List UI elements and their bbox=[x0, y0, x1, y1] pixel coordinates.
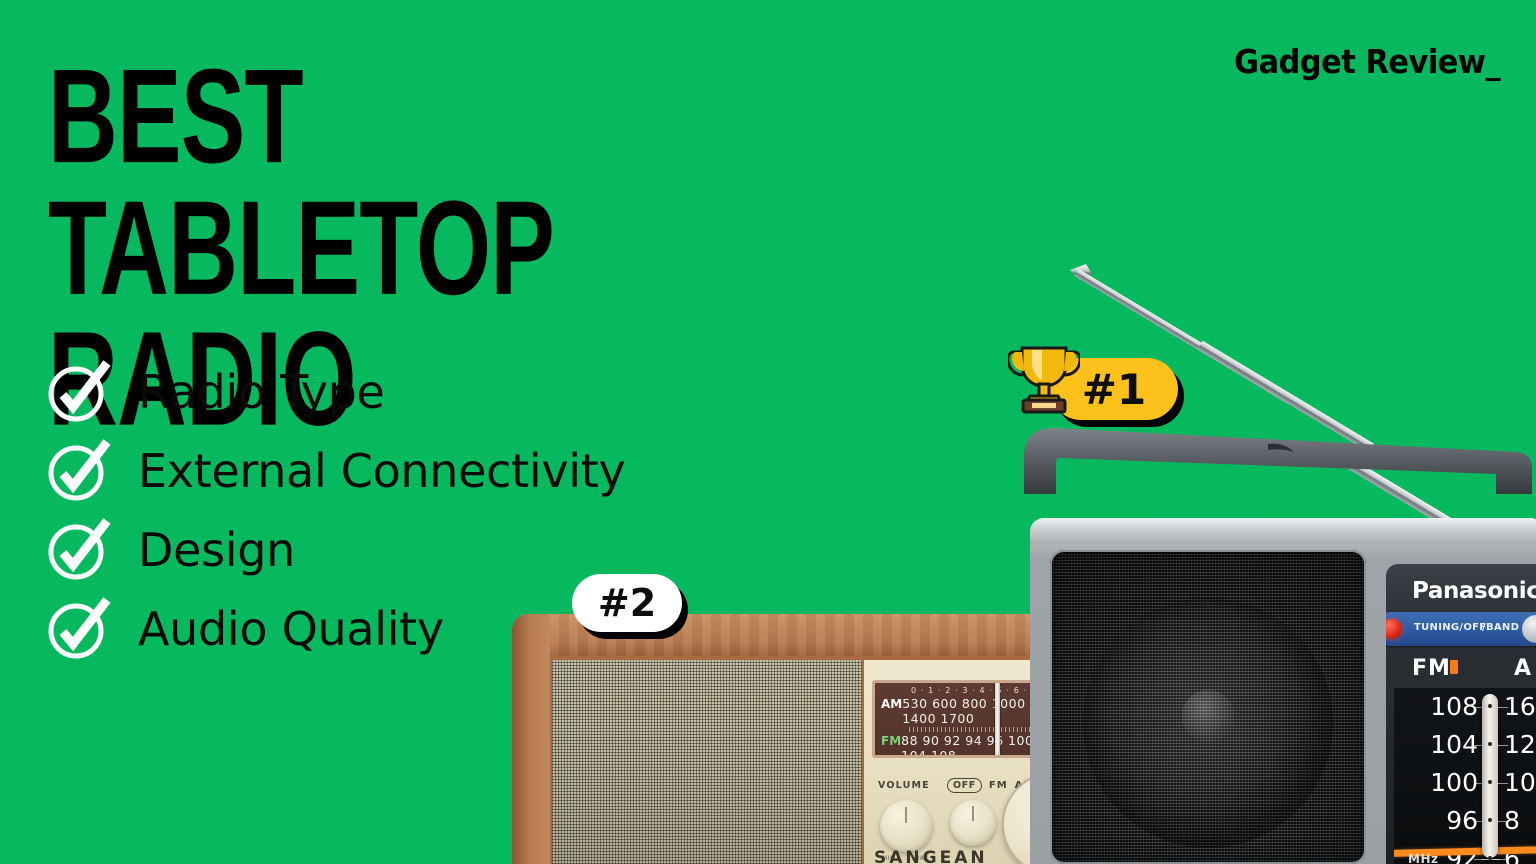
radio1-faceplate: Panasonic TUNING/OFF /BAND FM A 108 104 bbox=[1386, 564, 1536, 864]
checklist-item-label: Design bbox=[138, 523, 295, 577]
trophy-icon bbox=[1008, 336, 1080, 414]
radio1-control-strip: TUNING/OFF /BAND bbox=[1386, 612, 1536, 646]
checklist-item-radio-type: Radio Type bbox=[46, 352, 746, 431]
rank-badge-2-label: #2 bbox=[598, 581, 656, 625]
radio1-carry-handle bbox=[1018, 422, 1536, 494]
radio1-top-bevel bbox=[1030, 518, 1536, 544]
radio1-fm-tick: 108 bbox=[1430, 694, 1478, 719]
radio1-brand-label: Panasonic bbox=[1412, 578, 1536, 604]
radio2-am-label: AM bbox=[881, 697, 902, 711]
radio1-fm-indicator bbox=[1450, 660, 1458, 674]
radio1-dial-slider[interactable] bbox=[1482, 694, 1498, 858]
radio2-speaker-grille bbox=[552, 660, 862, 864]
checklist-item-external-connectivity: External Connectivity bbox=[46, 431, 746, 510]
checklist-item-label: Radio Type bbox=[138, 365, 385, 419]
check-circle-icon bbox=[46, 360, 110, 424]
radio1-fm-label: FM bbox=[1412, 656, 1451, 681]
radio2-left-edge bbox=[512, 614, 550, 864]
radio1-tuning-label: TUNING/OFF bbox=[1414, 622, 1486, 633]
radio2-fm-label: FM bbox=[881, 734, 901, 748]
radio1-control-section: Panasonic TUNING/OFF /BAND FM A 108 104 bbox=[1378, 550, 1536, 864]
check-circle-icon bbox=[46, 439, 110, 503]
radio1-frequency-scale: 108 104 100 96 92 88 16 12 10 8 6 bbox=[1394, 688, 1536, 864]
product-image-rank-2: 0 · 1 · 2 · 3 · 4 · 5 · 6 · 7 · 8 · 9 · … bbox=[512, 614, 1068, 864]
radio2-brand-label: SANGEAN bbox=[874, 848, 988, 864]
radio1-fm-scale-column: 108 104 100 96 92 88 bbox=[1400, 688, 1478, 864]
brand-logo: Gadget Review_ bbox=[1234, 42, 1500, 81]
rank-badge-2: #2 bbox=[572, 574, 682, 632]
check-circle-icon bbox=[46, 518, 110, 582]
radio1-am-tick: 10 bbox=[1504, 770, 1536, 795]
radio1-am-tick: 8 bbox=[1504, 808, 1520, 833]
radio2-off-label: OFF bbox=[947, 778, 982, 793]
rank-badge-1: #1 bbox=[1050, 358, 1178, 420]
radio1-tuning-knob[interactable] bbox=[1522, 615, 1536, 643]
radio2-cabinet: 0 · 1 · 2 · 3 · 4 · 5 · 6 · 7 · 8 · 9 · … bbox=[512, 614, 1068, 864]
radio1-body: Panasonic TUNING/OFF /BAND FM A 108 104 bbox=[1030, 518, 1536, 864]
check-circle-icon bbox=[46, 597, 110, 661]
checklist-item-label: External Connectivity bbox=[138, 444, 625, 498]
radio2-band-knob[interactable] bbox=[950, 800, 996, 846]
radio1-power-led-icon bbox=[1386, 619, 1402, 639]
promo-banner: Gadget Review_ BEST TABLETOP RADIO Radio… bbox=[0, 0, 1536, 864]
radio1-band-label: /BAND bbox=[1482, 622, 1519, 633]
radio1-speaker-grille bbox=[1050, 550, 1366, 864]
radio2-volume-label: VOLUME bbox=[878, 780, 930, 791]
radio1-fm-tick: 100 bbox=[1430, 770, 1478, 795]
radio1-am-label: A bbox=[1514, 656, 1532, 681]
rank-badge-1-label: #1 bbox=[1082, 365, 1146, 414]
radio1-unit-label: MHz bbox=[1408, 852, 1438, 864]
radio1-fm-tick: 104 bbox=[1430, 732, 1478, 757]
radio1-am-tick: 12 bbox=[1504, 732, 1536, 757]
radio1-am-scale-column: 16 12 10 8 6 5 bbox=[1504, 688, 1536, 864]
radio1-am-tick: 16 bbox=[1504, 694, 1536, 719]
radio2-fm-switch-label: FM bbox=[989, 780, 1008, 791]
product-image-rank-1: Panasonic TUNING/OFF /BAND FM A 108 104 bbox=[1012, 260, 1536, 864]
checklist-item-label: Audio Quality bbox=[138, 602, 444, 656]
radio2-volume-knob[interactable] bbox=[880, 800, 932, 852]
radio2-dial-needle bbox=[995, 683, 1000, 755]
